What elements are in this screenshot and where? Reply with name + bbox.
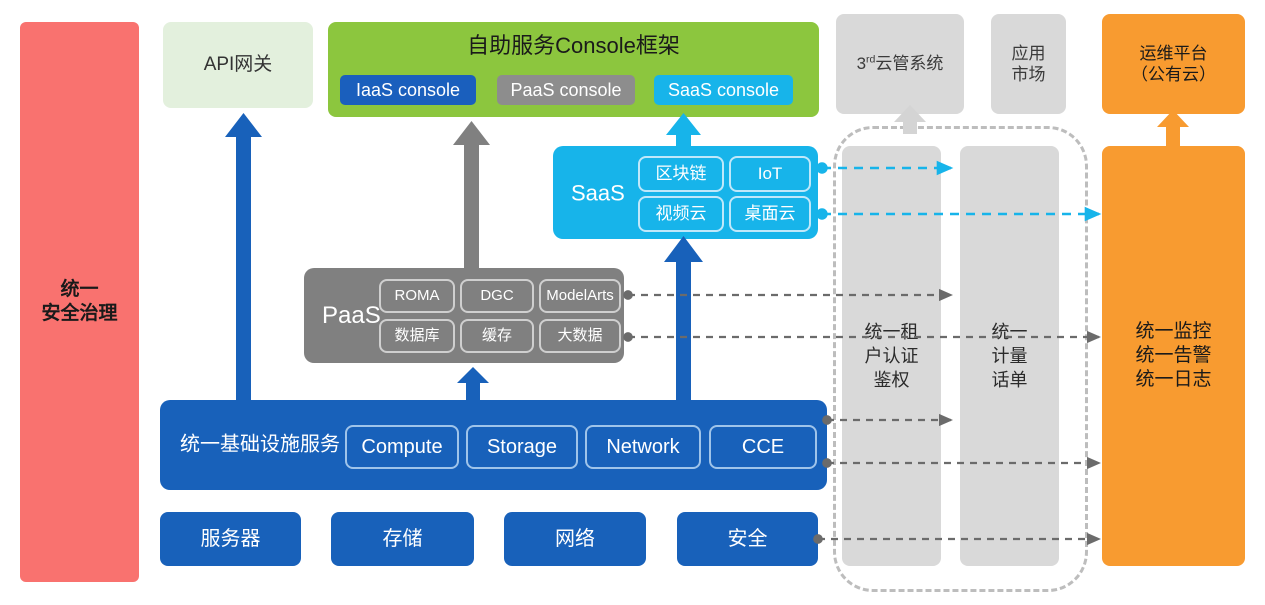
saas-block-label: SaaS: [571, 179, 625, 207]
iaas-console-label: IaaS console: [356, 79, 460, 102]
unified-tenant-auth-column: 统一租 户认证 鉴权: [842, 146, 941, 566]
unified-infrastructure-label: 统一基础设施服务: [180, 433, 340, 458]
architecture-diagram: 统一 安全治理 API网关 自助服务Console框架 IaaS console…: [0, 0, 1265, 605]
paas-console-label: PaaS console: [510, 79, 621, 102]
paas-item-dgc[interactable]: DGC: [460, 279, 534, 313]
saas-item-desktop-cloud[interactable]: 桌面云: [729, 196, 811, 232]
saas-item-desktop-cloud-label: 桌面云: [745, 203, 796, 224]
saas-console-label: SaaS console: [668, 79, 779, 102]
paas-item-modelarts-label: ModelArts: [546, 287, 614, 306]
saas-item-blockchain-label: 区块链: [656, 163, 707, 184]
resource-box-storage-label: 存储: [383, 527, 423, 552]
resource-box-security: 安全: [677, 512, 818, 566]
infra-item-cce-label: CCE: [742, 435, 784, 460]
resource-box-security-label: 安全: [728, 527, 768, 552]
api-gateway-label: API网关: [204, 53, 273, 77]
unified-tenant-auth-line2: 户认证: [865, 344, 919, 368]
paas-item-database[interactable]: 数据库: [379, 319, 455, 353]
saas-item-video-cloud[interactable]: 视频云: [638, 196, 724, 232]
resource-box-network: 网络: [504, 512, 646, 566]
app-market-line1: 应用: [1012, 43, 1046, 64]
saas-item-iot-label: IoT: [758, 163, 783, 184]
infra-item-compute-label: Compute: [361, 435, 442, 460]
infra-item-compute[interactable]: Compute: [345, 425, 459, 469]
ops-platform-top-box: 运维平台 （公有云）: [1102, 14, 1245, 114]
paas-item-bigdata-label: 大数据: [557, 327, 602, 346]
paas-item-dgc-label: DGC: [480, 287, 513, 306]
saas-block: SaaS 区块链 IoT 视频云 桌面云: [553, 146, 818, 239]
saas-item-video-cloud-label: 视频云: [656, 203, 707, 224]
resource-box-server-label: 服务器: [201, 527, 261, 552]
arrow-infra-to-api-gateway: [225, 113, 262, 400]
paas-item-roma-label: ROMA: [395, 287, 440, 306]
arrow-to-ops-platform-top: [1157, 110, 1189, 146]
resource-box-storage: 存储: [331, 512, 474, 566]
ops-panel-line2: 统一告警: [1135, 344, 1211, 368]
paas-item-cache-label: 缓存: [482, 327, 512, 346]
arrow-saas-to-console: [666, 113, 701, 149]
api-gateway-box: API网关: [163, 22, 313, 108]
third-party-cloud-mgmt-box: 3rd云管系统: [836, 14, 964, 114]
console-framework-title: 自助服务Console框架: [328, 32, 819, 60]
paas-block: PaaS ROMA DGC ModelArts 数据库 缓存 大数据: [304, 268, 624, 363]
security-governance-panel: 统一 安全治理: [20, 22, 139, 582]
arrow-infra-to-paas: [457, 367, 489, 400]
ops-platform-top-line1: 运维平台: [1140, 43, 1208, 64]
infra-item-network-label: Network: [606, 435, 679, 460]
infra-item-storage-label: Storage: [487, 435, 557, 460]
app-market-box: 应用 市场: [991, 14, 1066, 114]
ops-monitoring-panel: 统一监控 统一告警 统一日志: [1102, 146, 1245, 566]
resource-box-network-label: 网络: [555, 527, 595, 552]
paas-item-database-label: 数据库: [394, 327, 439, 346]
saas-item-iot[interactable]: IoT: [729, 156, 811, 192]
unified-tenant-auth-line1: 统一租: [865, 320, 919, 344]
saas-item-blockchain[interactable]: 区块链: [638, 156, 724, 192]
unified-metering-billing-line2: 计量: [992, 344, 1028, 368]
arrow-paas-to-console: [453, 121, 490, 268]
security-governance-line1: 统一: [60, 278, 98, 302]
infra-item-cce[interactable]: CCE: [709, 425, 817, 469]
resource-box-server: 服务器: [160, 512, 301, 566]
paas-item-roma[interactable]: ROMA: [379, 279, 455, 313]
saas-console-chip[interactable]: SaaS console: [654, 75, 793, 105]
paas-item-bigdata[interactable]: 大数据: [539, 319, 621, 353]
arrow-infra-to-saas: [664, 236, 703, 400]
unified-tenant-auth-line3: 鉴权: [874, 368, 910, 392]
paas-block-label: PaaS: [322, 301, 381, 331]
unified-metering-billing-line1: 统一: [992, 320, 1028, 344]
paas-console-chip[interactable]: PaaS console: [497, 75, 635, 105]
security-governance-line2: 安全治理: [41, 302, 117, 326]
ops-panel-line3: 统一日志: [1135, 368, 1211, 392]
infra-item-storage[interactable]: Storage: [466, 425, 578, 469]
unified-metering-billing-line3: 话单: [992, 368, 1028, 392]
iaas-console-chip[interactable]: IaaS console: [340, 75, 476, 105]
app-market-line2: 市场: [1012, 64, 1046, 85]
ops-platform-top-line2: （公有云）: [1131, 64, 1216, 85]
ops-panel-line1: 统一监控: [1135, 320, 1211, 344]
third-party-cloud-mgmt-label: 3rd云管系统: [857, 53, 944, 74]
console-framework-box: 自助服务Console框架 IaaS console PaaS console …: [328, 22, 819, 117]
infra-item-network[interactable]: Network: [585, 425, 701, 469]
paas-item-modelarts[interactable]: ModelArts: [539, 279, 621, 313]
paas-item-cache[interactable]: 缓存: [460, 319, 534, 353]
unified-infrastructure-bar: 统一基础设施服务 Compute Storage Network CCE: [160, 400, 827, 490]
unified-metering-billing-column: 统一 计量 话单: [960, 146, 1059, 566]
